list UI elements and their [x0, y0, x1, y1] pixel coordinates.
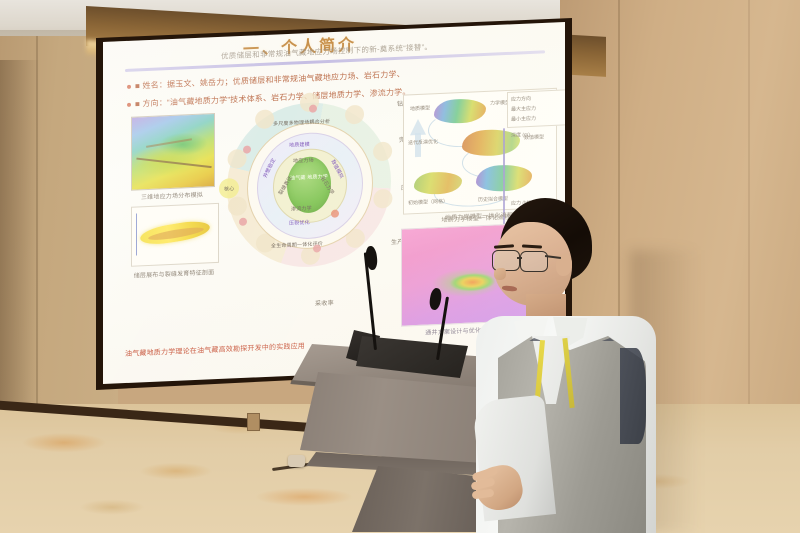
surface-model-1	[434, 98, 486, 124]
sector-label-5: 采收率	[315, 300, 334, 309]
legend-line-1: 应力方向	[511, 95, 531, 103]
depth-axis	[136, 213, 137, 255]
presenter-nose	[494, 268, 506, 280]
presentation-photo-scene: 一、个人简介 优质储层和非常规油气藏地应力场控制下的新-奠系统“接替”。 ■ 姓…	[0, 0, 800, 533]
wheel-inner-label-3: 渗流力学	[291, 205, 312, 213]
reservoir-caption: 储层展布与裂缝发育特征剖面	[125, 267, 223, 280]
bullet-dot-icon	[127, 103, 131, 107]
geo-map-caption: 三维地应力场分布模拟	[127, 189, 217, 202]
wall-outlet	[247, 413, 260, 431]
axis-label-depth: 深度 (m)	[511, 131, 530, 139]
cable-plug	[288, 455, 305, 467]
stress-field-map-image	[131, 113, 215, 191]
presenter	[470, 198, 660, 533]
bullet-dot-icon	[127, 85, 131, 89]
glasses-lens-right	[520, 251, 548, 272]
wheel-side-badge-label: 核心	[224, 185, 234, 192]
stress-legend-box: 应力方向 最大主应力 最小主应力	[507, 89, 565, 128]
glasses-bridge	[517, 257, 522, 259]
reservoir-section-image	[131, 203, 219, 267]
fault-line	[136, 158, 211, 169]
model-label-arrow: 迭代反演优化	[408, 138, 438, 146]
legend-line-3: 最小主应力	[511, 115, 536, 123]
legend-line-2: 最大主应力	[511, 105, 536, 113]
vest-armhole-trim	[620, 348, 646, 444]
wheel-middle-label-1: 地质建模	[289, 141, 310, 149]
surface-model-3	[414, 171, 462, 195]
fault-line	[146, 138, 192, 147]
model-label-top-left: 地质模型	[410, 104, 430, 112]
model-label-bottom-left: 初始模型（网格）	[408, 198, 448, 207]
wall-left-shadow	[0, 60, 40, 420]
wheel-middle-label-3: 压裂优化	[289, 219, 310, 227]
wheel-inner-label-1: 地应力场	[293, 157, 314, 165]
